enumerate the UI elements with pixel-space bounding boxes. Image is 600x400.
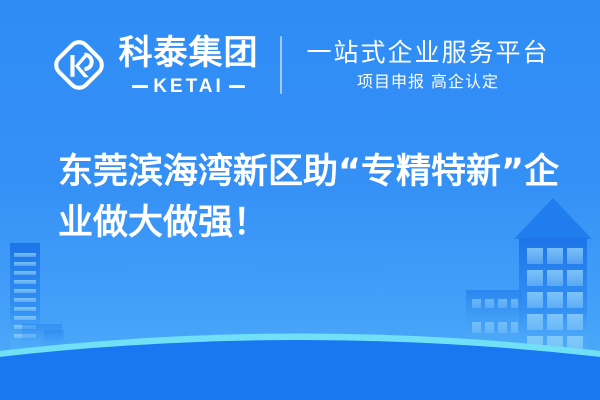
promo-banner: 科泰集团 KETAI 一站式企业服务平台 项目申报 高企认定 东莞滨海湾新区助“… <box>0 0 600 400</box>
ground-edge-curve <box>0 334 600 400</box>
headline-line-1: 东莞滨海湾新区助“专精特新”企 <box>58 147 558 198</box>
brand-name-en-row: KETAI <box>118 77 258 96</box>
building-left-short-block <box>22 324 64 356</box>
brand-text: 科泰集团 KETAI <box>118 34 258 95</box>
brand-dash-right-icon <box>229 85 245 88</box>
building-left-tall-tower <box>10 243 40 355</box>
building-right-wide-block <box>466 290 522 354</box>
tagline-block: 一站式企业服务平台 项目申报 高企认定 <box>282 40 549 90</box>
banner-header: 科泰集团 KETAI 一站式企业服务平台 项目申报 高企认定 <box>0 0 600 130</box>
tagline-main: 一站式企业服务平台 <box>306 40 549 65</box>
brand-lockup: 科泰集团 KETAI <box>50 34 280 95</box>
brand-name-en: KETAI <box>153 77 224 96</box>
brand-dash-left-icon <box>132 85 148 88</box>
brand-name-cn: 科泰集团 <box>118 34 258 72</box>
tagline-sub: 项目申报 高企认定 <box>357 74 499 90</box>
ketai-diamond-kp-logo-icon <box>50 36 108 94</box>
headline-line-2: 业做大做强！ <box>58 198 558 249</box>
headline-block: 东莞滨海湾新区助“专精特新”企 业做大做强！ <box>58 147 558 249</box>
ground-fill-curve <box>0 340 600 400</box>
